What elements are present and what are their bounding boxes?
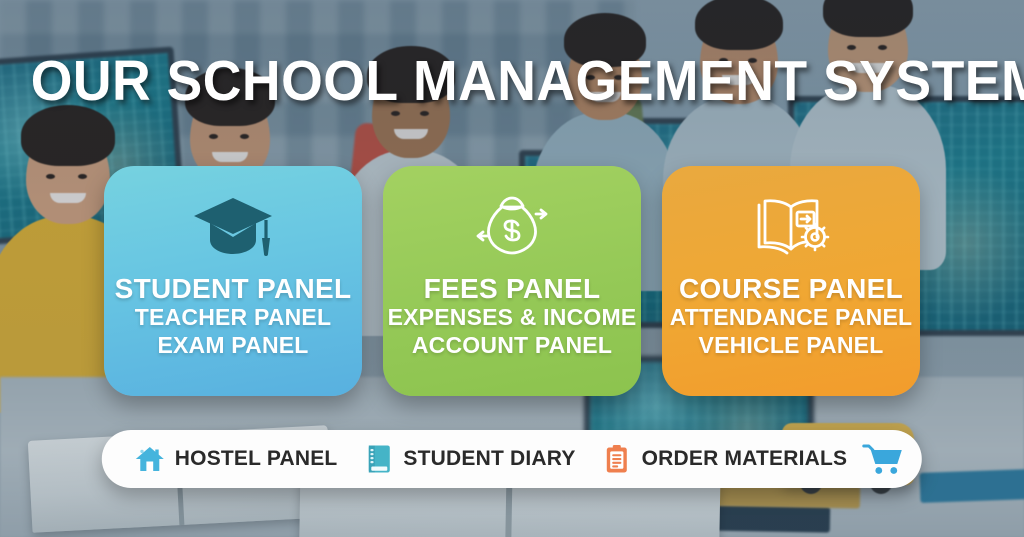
graduation-cap-icon: [190, 188, 276, 266]
quick-link-student-diary[interactable]: STUDENT DIARY: [350, 444, 588, 474]
card-title: COURSE PANEL: [679, 274, 903, 303]
money-bag-icon: [468, 188, 556, 266]
quick-link-label: HOSTEL PANEL: [175, 447, 338, 471]
card-title: FEES PANEL: [424, 274, 601, 303]
shopping-cart-icon[interactable]: [862, 442, 904, 476]
card-fees-panel[interactable]: FEES PANEL EXPENSES & INCOME ACCOUNT PAN…: [383, 166, 641, 396]
school-management-banner: OUR SCHOOL MANAGEMENT SYSTEM STUDENT PAN…: [0, 0, 1024, 537]
quick-link-order-materials[interactable]: ORDER MATERIALS: [589, 444, 861, 474]
notebook-icon: [363, 444, 393, 474]
card-line: EXAM PANEL: [157, 331, 308, 359]
clipboard-icon: [602, 444, 632, 474]
panel-card-group: STUDENT PANEL TEACHER PANEL EXAM PANEL: [0, 166, 1024, 396]
card-line: VEHICLE PANEL: [699, 331, 884, 359]
quick-links-bar: HOSTEL PANEL: [102, 430, 922, 488]
card-line: EXPENSES & INCOME: [388, 303, 637, 331]
card-line: TEACHER PANEL: [135, 303, 331, 331]
home-icon: [135, 444, 165, 474]
quick-link-label: STUDENT DIARY: [403, 447, 575, 471]
card-course-panel[interactable]: COURSE PANEL ATTENDANCE PANEL VEHICLE PA…: [662, 166, 920, 396]
card-line: ATTENDANCE PANEL: [670, 303, 913, 331]
quick-link-label: ORDER MATERIALS: [642, 447, 848, 471]
card-title: STUDENT PANEL: [115, 274, 352, 303]
page-title: OUR SCHOOL MANAGEMENT SYSTEM: [31, 48, 994, 114]
card-line: ACCOUNT PANEL: [412, 331, 612, 359]
quick-link-hostel-panel[interactable]: HOSTEL PANEL: [122, 444, 351, 474]
card-student-panel[interactable]: STUDENT PANEL TEACHER PANEL EXAM PANEL: [104, 166, 362, 396]
book-gear-icon: [747, 188, 835, 266]
banner-content: OUR SCHOOL MANAGEMENT SYSTEM STUDENT PAN…: [0, 0, 1024, 537]
